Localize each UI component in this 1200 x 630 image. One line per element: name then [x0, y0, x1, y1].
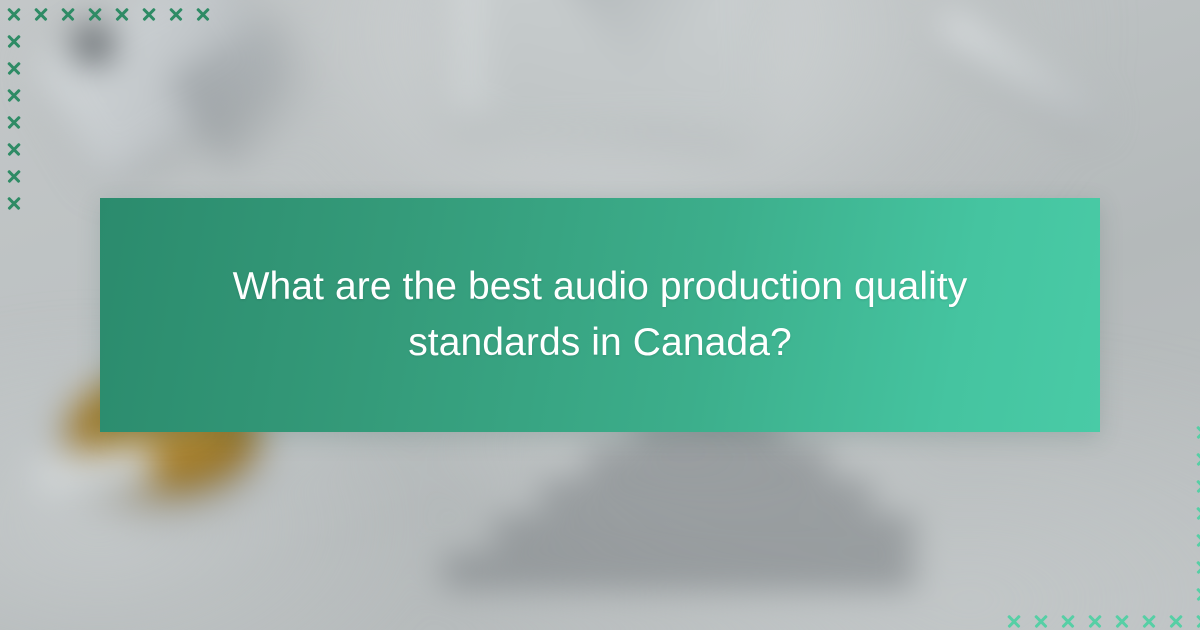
- headline-banner: What are the best audio production quali…: [100, 198, 1100, 432]
- keyboard-row: [588, 448, 828, 472]
- x-mark-icon: [1060, 613, 1076, 629]
- x-mark-icon: [168, 6, 184, 22]
- x-mark-icon: [1114, 613, 1130, 629]
- x-mark-icon: [141, 6, 157, 22]
- x-mark-icon: [1168, 613, 1184, 629]
- x-mark-icon: [6, 114, 22, 130]
- keyboard-row: [541, 482, 871, 507]
- x-mark-icon: [1087, 613, 1103, 629]
- x-mark-icon: [6, 33, 22, 49]
- x-mark-icon: [1195, 532, 1200, 548]
- x-mark-icon: [6, 6, 22, 22]
- x-mark-icon: [1006, 613, 1022, 629]
- x-mark-icon: [195, 6, 211, 22]
- x-mark-icon: [114, 6, 130, 22]
- keyboard-row: [444, 556, 914, 584]
- x-mark-icon: [6, 87, 22, 103]
- social-card: What are the best audio production quali…: [0, 0, 1200, 630]
- x-mark-icon: [6, 141, 22, 157]
- x-mark-icon: [1033, 613, 1049, 629]
- page-title: What are the best audio production quali…: [148, 259, 1052, 371]
- x-mark-icon: [1141, 613, 1157, 629]
- keyboard-row: [494, 518, 914, 545]
- x-mark-icon: [6, 60, 22, 76]
- x-mark-icon: [60, 6, 76, 22]
- x-mark-icon: [1195, 478, 1200, 494]
- x-mark-icon: [33, 6, 49, 22]
- x-mark-icon: [1195, 613, 1200, 629]
- x-mark-icon: [1195, 559, 1200, 575]
- decoration-x-grid-bottom-right: [1006, 424, 1200, 630]
- x-mark-icon: [6, 168, 22, 184]
- x-mark-icon: [6, 195, 22, 211]
- decoration-x-grid-top-left: [6, 6, 222, 222]
- x-mark-icon: [1195, 451, 1200, 467]
- x-mark-icon: [1195, 505, 1200, 521]
- x-mark-icon: [87, 6, 103, 22]
- x-mark-icon: [1195, 586, 1200, 602]
- x-mark-icon: [1195, 424, 1200, 440]
